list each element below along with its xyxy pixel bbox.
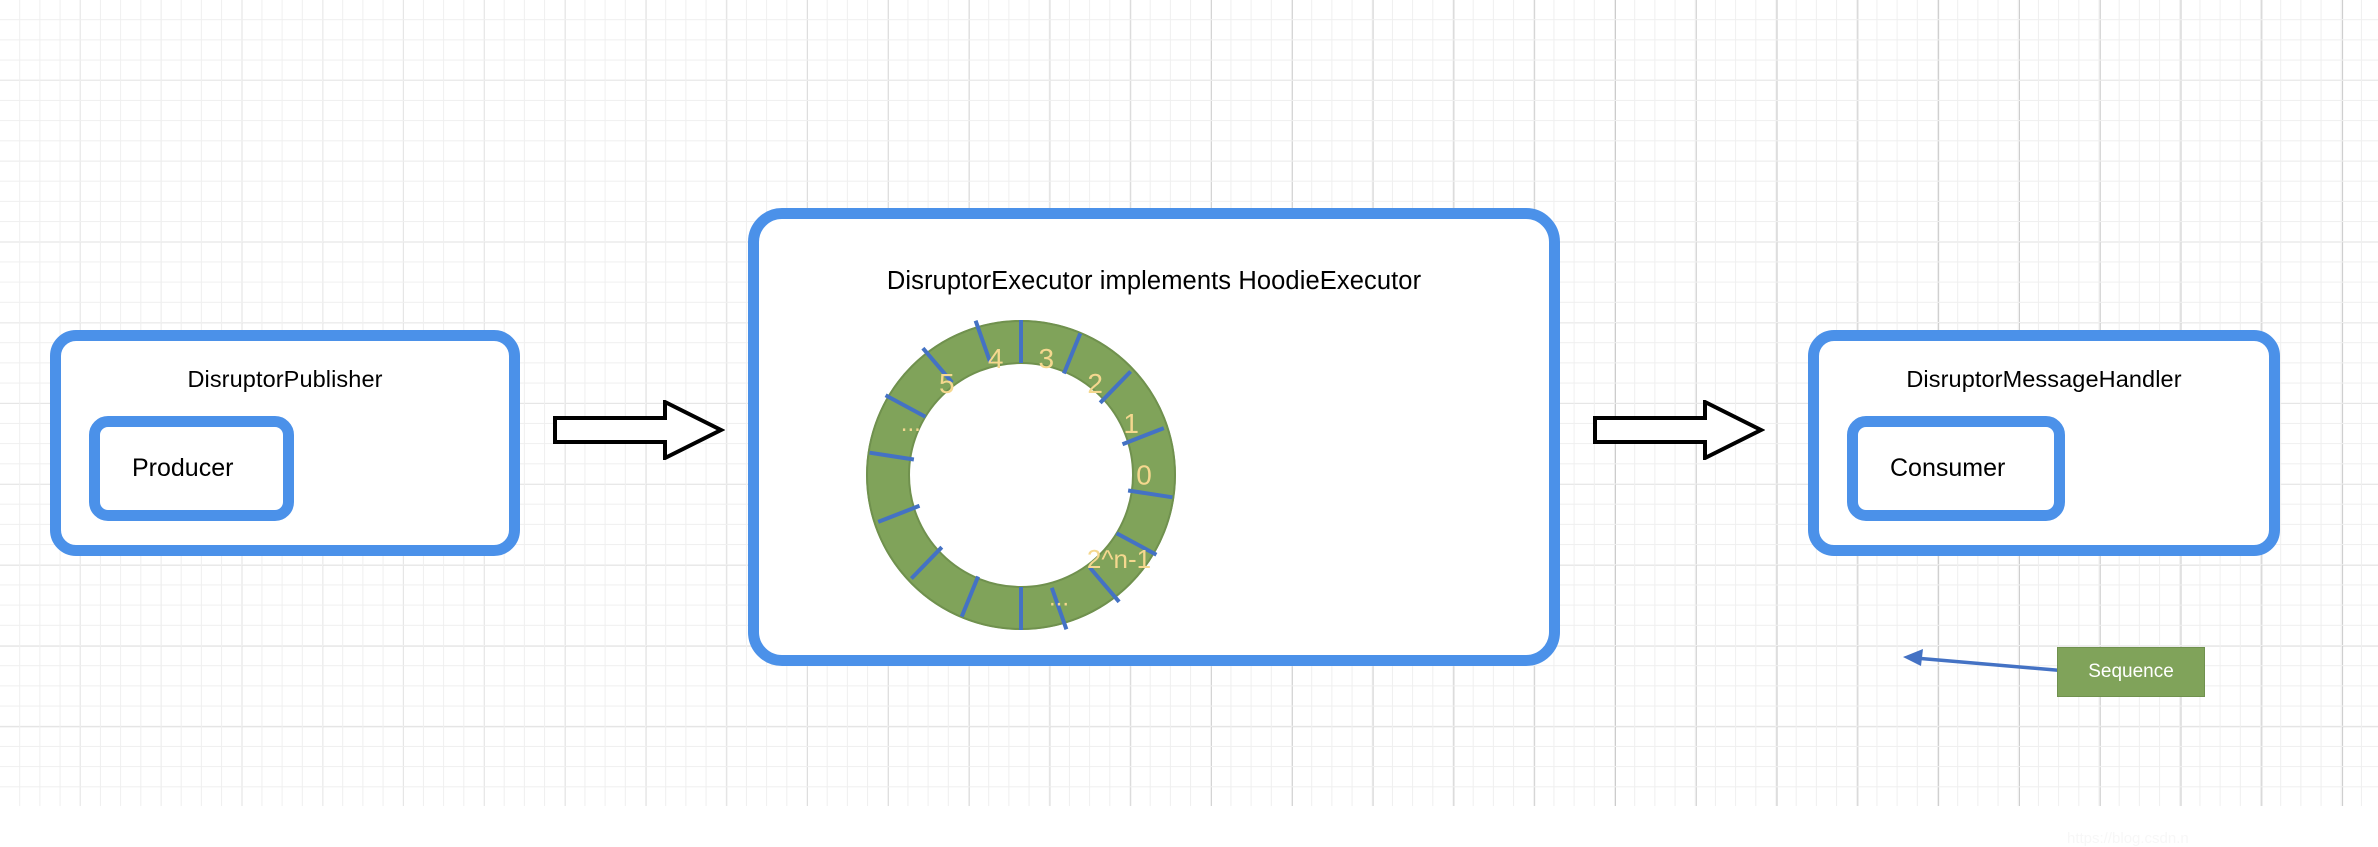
node-producer[interactable]: Producer <box>89 416 294 521</box>
group-disruptor-message-handler[interactable]: DisruptorMessageHandler Consumer <box>1808 330 2280 556</box>
ring-buffer[interactable]: 0 1 2 3 4 5 ... ... 2^n-1 <box>861 315 1181 635</box>
ring-label-2n-1: 2^n-1 <box>1087 544 1151 574</box>
arrow-publisher-to-executor <box>553 400 725 460</box>
group-disruptor-executor[interactable]: DisruptorExecutor implements HoodieExecu… <box>748 208 1560 666</box>
ring-label-5: 5 <box>939 368 955 399</box>
ring-label-1: 1 <box>1123 408 1139 439</box>
group-title-disruptor-executor: DisruptorExecutor implements HoodieExecu… <box>759 267 1549 296</box>
group-title-disruptor-message-handler: DisruptorMessageHandler <box>1819 366 2269 393</box>
ring-label-ellipsis-top: ... <box>901 410 921 437</box>
node-producer-label: Producer <box>100 454 233 483</box>
ring-label-ellipsis-bottom: ... <box>1049 585 1069 612</box>
ring-label-2: 2 <box>1087 368 1103 399</box>
ring-label-3: 3 <box>1039 343 1055 374</box>
arrow-executor-to-handler <box>1593 400 1765 460</box>
group-disruptor-publisher[interactable]: DisruptorPublisher Producer <box>50 330 520 556</box>
group-title-disruptor-publisher: DisruptorPublisher <box>61 366 509 393</box>
ring-label-4: 4 <box>988 343 1004 374</box>
node-sequence-label: Sequence <box>2088 661 2174 683</box>
node-consumer-label: Consumer <box>1858 454 2005 483</box>
arrow-sequence-to-slot0 <box>1899 639 2069 689</box>
ring-label-0: 0 <box>1136 460 1152 491</box>
watermark-text: https://blog.csdn.n <box>2067 830 2189 847</box>
node-sequence[interactable]: Sequence <box>2057 647 2205 697</box>
node-consumer[interactable]: Consumer <box>1847 416 2065 521</box>
